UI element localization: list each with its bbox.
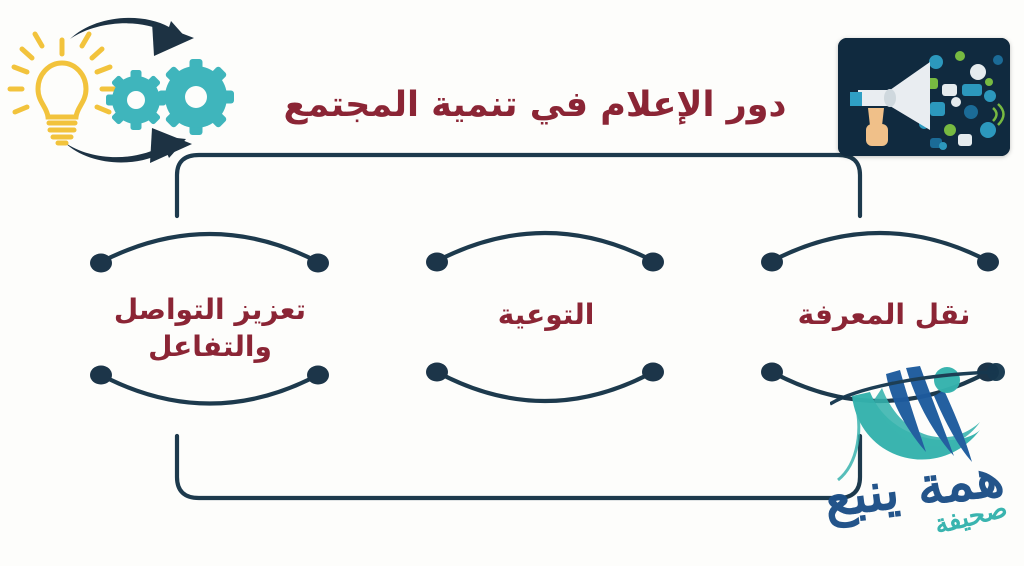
infographic-canvas: دور الإعلام في تنمية المجتمع تعزيز التوا…	[0, 0, 1024, 566]
node-left-arc-bottom	[101, 375, 318, 404]
node-left-arc-top	[101, 234, 318, 262]
dot-left-tr	[307, 254, 329, 273]
page-title: دور الإعلام في تنمية المجتمع	[300, 74, 770, 136]
node-right-arc-top	[772, 233, 988, 261]
dot-right-bl	[761, 363, 783, 382]
node-label-communication: تعزيز التواصل والتفاعل	[96, 283, 324, 375]
watermark-logo: همة ينبع صحيفة	[830, 352, 1024, 566]
megaphone-social-media-image	[838, 38, 1010, 156]
dot-center-tl	[426, 253, 448, 272]
dot-right-tl	[761, 253, 783, 272]
dot-right-tr	[977, 253, 999, 272]
dot-left-tl	[90, 254, 112, 273]
node-center-arc-top	[437, 233, 653, 261]
dot-center-tr	[642, 253, 664, 272]
lightbulb-icon	[10, 34, 114, 143]
gear-icon	[106, 59, 234, 135]
frame-bottom-connector	[177, 436, 860, 498]
dot-center-bl	[426, 363, 448, 382]
frame-top-connector	[177, 155, 860, 216]
logo-dot	[934, 367, 960, 393]
dot-center-br	[642, 363, 664, 382]
lightbulb-gears-cycle-icon	[2, 10, 252, 175]
node-center-arc-bottom	[437, 372, 653, 401]
node-label-knowledge-transfer: نقل المعرفة	[768, 285, 1000, 345]
node-label-awareness: التوعية	[432, 285, 660, 345]
